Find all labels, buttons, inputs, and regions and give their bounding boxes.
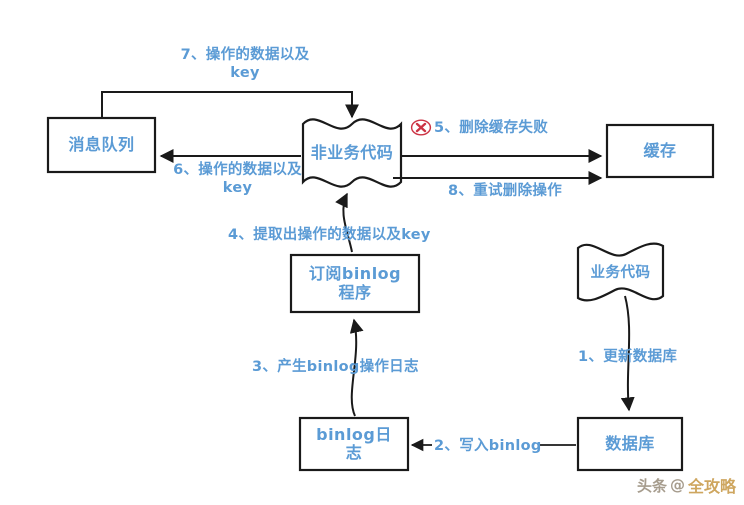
edge-label-step5-text: 5、删除缓存失败 xyxy=(434,120,548,136)
node-shape-business-code xyxy=(578,244,663,301)
edge-label-step7-line2: key xyxy=(155,64,335,82)
watermark: 头条 @ 全攻略 xyxy=(637,473,736,497)
watermark-source: 头条 xyxy=(637,475,667,496)
edge-label-step7-line1: 7、操作的数据以及 xyxy=(155,46,335,64)
edge-label-step1: 1、更新数据库 xyxy=(578,348,677,366)
edge-label-step3-text: 3、产生binlog操作日志 xyxy=(252,359,419,375)
edge-label-step2-text: 2、写入binlog xyxy=(434,438,542,454)
node-shape-subscribe-binlog xyxy=(291,255,419,312)
diagram-connectors xyxy=(0,0,744,505)
node-shape-binlog-log xyxy=(300,418,408,470)
edge-label-step8-text: 8、重试删除操作 xyxy=(448,183,562,199)
edge-label-step8: 8、重试删除操作 xyxy=(448,182,562,200)
watermark-handle: 全攻略 xyxy=(688,473,736,497)
node-shape-cache xyxy=(607,125,713,177)
node-shape-database xyxy=(578,418,682,470)
node-shape-message-queue xyxy=(48,118,155,172)
cross-circle-icon xyxy=(410,119,432,136)
edge-label-step6: 6、操作的数据以及 key xyxy=(150,161,325,197)
edge-label-step4: 4、提取出操作的数据以及key xyxy=(228,226,431,244)
edge-label-step7: 7、操作的数据以及 key xyxy=(155,46,335,82)
edge-label-step6-line1: 6、操作的数据以及 xyxy=(150,161,325,179)
edge-label-step2: 2、写入binlog xyxy=(434,437,542,455)
edge-label-step1-text: 1、更新数据库 xyxy=(578,349,677,365)
watermark-at: @ xyxy=(670,476,685,494)
edge-label-step6-line2: key xyxy=(150,179,325,197)
edge-label-step4-text: 4、提取出操作的数据以及key xyxy=(228,227,431,243)
edge-step7-arrow xyxy=(102,92,352,118)
diagram-canvas: 消息队列 非业务代码 缓存 订阅binlog 程序 业务代码 binlog日 志… xyxy=(0,0,744,505)
edge-label-step5: 5、删除缓存失败 xyxy=(434,119,548,137)
edge-label-step3: 3、产生binlog操作日志 xyxy=(252,358,419,376)
